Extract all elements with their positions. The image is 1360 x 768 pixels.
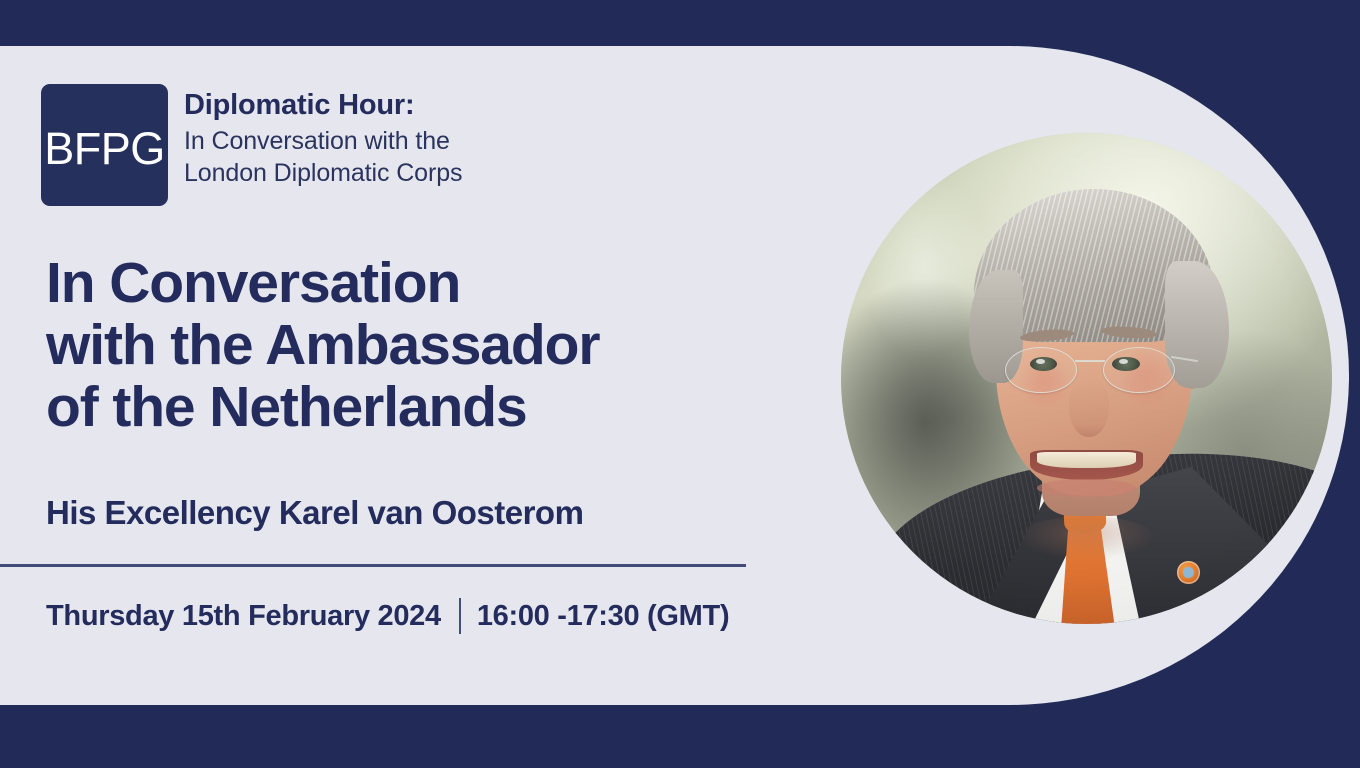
event-datetime: Thursday 15th February 2024 16:00 -17:30… (46, 598, 729, 634)
event-headline-line-2: with the Ambassador (46, 315, 836, 377)
portrait-background (841, 133, 1332, 624)
portrait-lapel-pin (1177, 561, 1200, 584)
divider-rule (0, 564, 746, 567)
series-header: Diplomatic Hour: In Conversation with th… (184, 88, 744, 189)
portrait-glasses-bridge (1075, 360, 1105, 362)
bfpg-logo-text: BFPG (44, 126, 165, 171)
portrait-glasses-lens-right (1103, 347, 1174, 393)
series-subtitle-line-2: London Diplomatic Corps (184, 157, 744, 189)
speaker-portrait (841, 133, 1332, 624)
portrait-lapel-pin-emblem (1183, 567, 1194, 579)
bfpg-logo: BFPG (41, 84, 168, 206)
series-subtitle-line-1: In Conversation with the (184, 125, 744, 157)
portrait-glasses-lens-left (1005, 347, 1076, 393)
portrait-chin-shading (1018, 516, 1155, 560)
portrait-lower-lip (1037, 479, 1135, 497)
series-title: Diplomatic Hour: (184, 88, 744, 123)
event-headline: In Conversation with the Ambassador of t… (46, 253, 836, 439)
event-promo-card: BFPG Diplomatic Hour: In Conversation wi… (0, 0, 1360, 768)
speaker-name: His Excellency Karel van Oosterom (46, 494, 836, 532)
datetime-separator (459, 598, 461, 634)
event-time: 16:00 -17:30 (GMT) (477, 600, 729, 633)
event-headline-line-1: In Conversation (46, 253, 836, 315)
portrait-teeth (1037, 452, 1136, 468)
portrait-nose (1069, 379, 1108, 438)
event-headline-line-3: of the Netherlands (46, 377, 836, 439)
portrait-mouth (1030, 450, 1143, 480)
event-date: Thursday 15th February 2024 (46, 600, 441, 633)
